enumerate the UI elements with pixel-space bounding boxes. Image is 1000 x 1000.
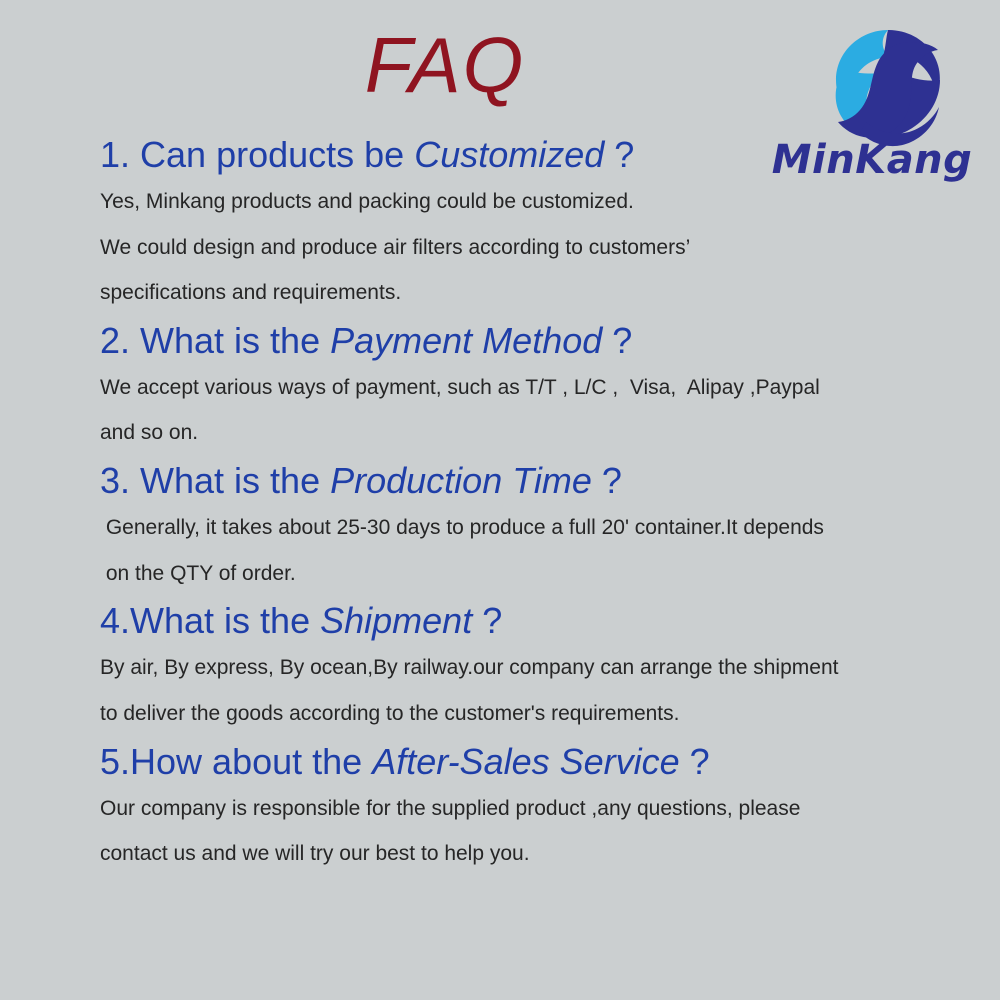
faq-question-3-emphasis: Production Time xyxy=(330,460,592,501)
faq-question-5: 5.How about the After-Sales Service ? xyxy=(100,739,980,785)
faq-item-4: 4.What is the Shipment ? By air, By expr… xyxy=(100,598,980,734)
faq-question-5-lead: How about the xyxy=(130,741,372,782)
faq-item-1: 1. Can products be Customized ? Yes, Min… xyxy=(100,132,980,314)
faq-answer-4-line-1: By air, By express, By ocean,By railway.… xyxy=(100,647,980,689)
faq-question-1-tail: ? xyxy=(604,134,634,175)
faq-answer-1-line-3: specifications and requirements. xyxy=(100,272,980,314)
faq-question-1-emphasis: Customized xyxy=(414,134,604,175)
faq-answer-1-line-2: We could design and produce air filters … xyxy=(100,227,980,269)
faq-answer-3-line-2: on the QTY of order. xyxy=(100,553,980,595)
faq-question-4: 4.What is the Shipment ? xyxy=(100,598,980,644)
faq-question-3-tail: ? xyxy=(592,460,622,501)
faq-question-1-number: 1. xyxy=(100,134,140,175)
faq-question-2-emphasis: Payment Method xyxy=(330,320,602,361)
faq-question-5-tail: ? xyxy=(680,741,710,782)
faq-question-1: 1. Can products be Customized ? xyxy=(100,132,980,178)
faq-answer-2-line-2: and so on. xyxy=(100,412,980,454)
faq-list: 1. Can products be Customized ? Yes, Min… xyxy=(100,132,980,879)
faq-question-2-lead: What is the xyxy=(140,320,330,361)
faq-answer-2-line-1: We accept various ways of payment, such … xyxy=(100,367,980,409)
faq-answer-3-line-1: Generally, it takes about 25-30 days to … xyxy=(100,507,980,549)
faq-question-2-number: 2. xyxy=(100,320,140,361)
faq-question-2-tail: ? xyxy=(602,320,632,361)
minkang-swirl-icon xyxy=(822,18,954,150)
faq-question-4-number: 4. xyxy=(100,600,130,641)
faq-question-5-number: 5. xyxy=(100,741,130,782)
faq-question-4-emphasis: Shipment xyxy=(320,600,472,641)
faq-item-2: 2. What is the Payment Method ? We accep… xyxy=(100,318,980,454)
faq-question-3-lead: What is the xyxy=(140,460,330,501)
faq-answer-5-line-2: contact us and we will try our best to h… xyxy=(100,833,980,875)
faq-answer-4-line-2: to deliver the goods according to the cu… xyxy=(100,693,980,735)
faq-item-3: 3. What is the Production Time ? General… xyxy=(100,458,980,594)
faq-question-3-number: 3. xyxy=(100,460,140,501)
faq-page: FAQ xyxy=(0,0,1000,1000)
faq-question-4-lead: What is the xyxy=(130,600,320,641)
faq-question-5-emphasis: After-Sales Service xyxy=(372,741,679,782)
faq-answer-1-line-1: Yes, Minkang products and packing could … xyxy=(100,181,980,223)
faq-question-2: 2. What is the Payment Method ? xyxy=(100,318,980,364)
faq-question-1-lead: Can products be xyxy=(140,134,414,175)
faq-answer-5-line-1: Our company is responsible for the suppl… xyxy=(100,788,980,830)
faq-question-4-tail: ? xyxy=(472,600,502,641)
faq-question-3: 3. What is the Production Time ? xyxy=(100,458,980,504)
faq-item-5: 5.How about the After-Sales Service ? Ou… xyxy=(100,739,980,875)
